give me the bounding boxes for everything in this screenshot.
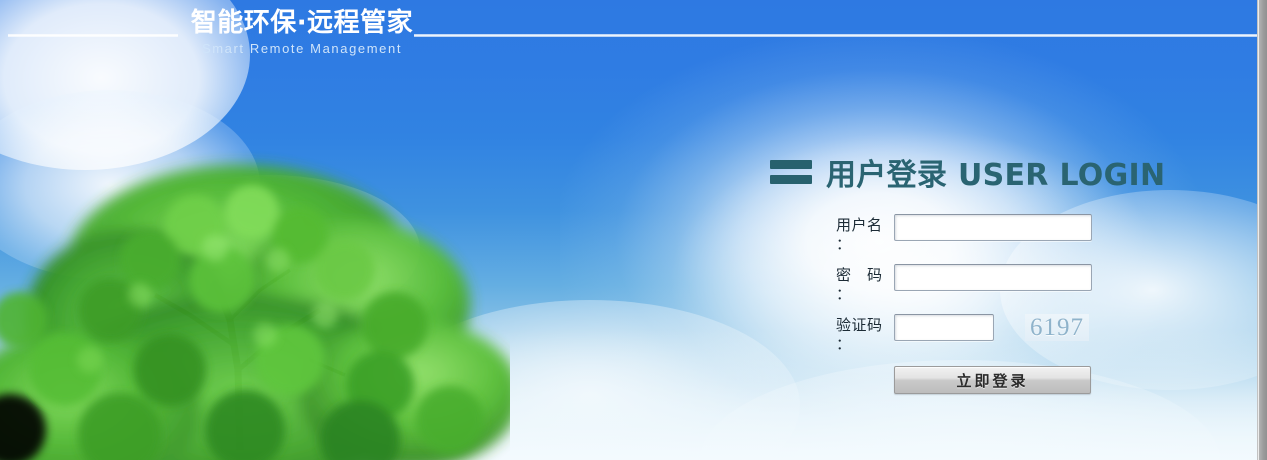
cloud-bottom-mid: [120, 375, 500, 460]
username-label-text: 用户名: [836, 216, 883, 234]
login-heading-text: 用户登录 USER LOGIN: [826, 150, 1165, 194]
password-label: 密 码 ：: [836, 264, 894, 304]
vertical-scrollbar[interactable]: [1257, 0, 1267, 460]
login-heading: 用户登录 USER LOGIN: [770, 150, 1150, 194]
form-row-password: 密 码 ：: [836, 264, 1150, 304]
scrollbar-thumb[interactable]: [1259, 0, 1267, 460]
captcha-input[interactable]: [894, 314, 994, 341]
username-label-colon: ：: [836, 235, 894, 254]
password-input[interactable]: [894, 264, 1092, 291]
cloud-bottom-left: [380, 300, 800, 460]
captcha-label-text: 验证码: [836, 316, 883, 334]
form-row-captcha: 验证码 ： 6197: [836, 314, 1150, 354]
brand: 智能环保·远程管家 Smart Remote Management: [186, 8, 418, 57]
header-rule-left: [8, 34, 178, 37]
captcha-code-image[interactable]: 6197: [1025, 314, 1089, 341]
brand-title: 智能环保·远程管家: [186, 8, 418, 38]
form-row-username: 用户名 ：: [836, 214, 1150, 254]
cloud-mid-left: [120, 175, 420, 325]
captcha-label-colon: ：: [836, 335, 894, 354]
brand-subtitle: Smart Remote Management: [186, 41, 418, 57]
browser-viewport: 智能环保·远程管家 Smart Remote Management 用户登录 U…: [0, 0, 1267, 460]
login-button[interactable]: 立即登录: [894, 366, 1091, 394]
username-label: 用户名 ：: [836, 214, 894, 254]
tree-illustration: [0, 120, 510, 460]
password-label-colon: ：: [836, 285, 894, 304]
cloud-top-left-2: [0, 90, 260, 280]
login-panel: 用户登录 USER LOGIN 用户名 ： 密 码 ：: [770, 150, 1150, 394]
login-page: 智能环保·远程管家 Smart Remote Management 用户登录 U…: [0, 0, 1257, 460]
header-rule-right: [414, 34, 1257, 37]
captcha-label: 验证码 ：: [836, 314, 894, 354]
submit-row: 立即登录: [894, 366, 1150, 394]
login-form: 用户名 ： 密 码 ： 验证码 ：: [836, 214, 1150, 394]
username-input[interactable]: [894, 214, 1092, 241]
password-label-text: 密 码: [836, 266, 883, 284]
two-bars-icon: [770, 160, 812, 184]
